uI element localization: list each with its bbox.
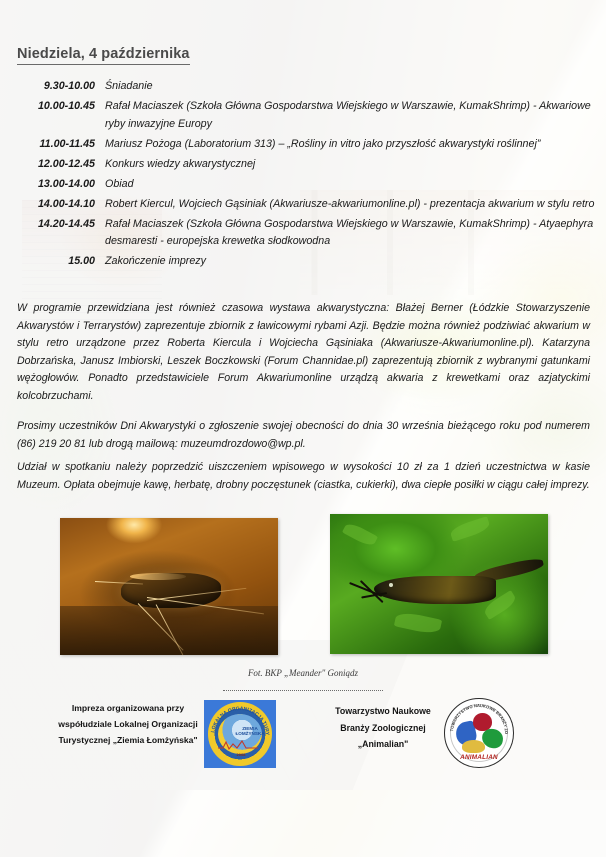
organizer-left-text: Impreza organizowana przy współudziale L… [52, 700, 204, 748]
schedule-description-main: Rafał Maciaszek (Szkoła Główna Gospodars… [105, 218, 593, 230]
organizer-left-line-2: współudziale Lokalnej Organizacji [52, 716, 204, 732]
schedule-description: Rafał Maciaszek (Szkoła Główna Gospodars… [105, 216, 606, 251]
paragraph-exhibition: W programie przewidziana jest również cz… [17, 300, 590, 406]
ziemia-lomzynska-logo: LOKALNA ORGANIZACJA TURYSTYCZNA ZIEMIA Ł… [204, 700, 276, 768]
schedule-time: 13.00-14.00 [0, 176, 105, 194]
photo-credit: Fot. BKP „Meander" Goniądz [0, 668, 606, 678]
schedule-row: 14.20-14.45 Rafał Maciaszek (Szkoła Głów… [0, 216, 606, 251]
paragraph-fee: Udział w spotkaniu należy poprzedzić uis… [17, 459, 590, 494]
animalian-logo-hedgehog-icon [462, 740, 485, 753]
organizer-right-text: Towarzystwo Naukowe Branży Zoologicznej … [318, 703, 448, 753]
schedule-description: Rafał Maciaszek (Szkoła Główna Gospodars… [105, 98, 606, 133]
page-title: Niedziela, 4 października [17, 46, 190, 65]
schedule-description: Robert Kiercul, Wojciech Gąsiniak (Akwar… [105, 196, 606, 214]
shrimp-photo-eye [389, 583, 393, 587]
animalian-logo: TOWARZYSTWO NAUKOWE BRANŻY ZOOLOGICZNEJ … [444, 698, 514, 768]
schedule-time: 12.00-12.45 [0, 156, 105, 174]
schedule-description: Śniadanie [105, 78, 606, 96]
organizer-left-line-3: Turystycznej „Ziemia Łomżyńska" [52, 732, 204, 748]
schedule-list: 9.30-10.00 Śniadanie 10.00-10.45 Rafał M… [0, 78, 606, 273]
shrimp-photo [330, 514, 548, 654]
ziemia-lomzynska-logo-wave-icon [218, 739, 258, 751]
schedule-description: Obiad [105, 176, 606, 194]
schedule-description: Mariusz Pożoga (Laboratorium 313) – „Roś… [105, 136, 606, 154]
schedule-description-main: Konkurs wiedzy akwarystycznej [105, 158, 255, 170]
organizer-left-line-1: Impreza organizowana przy [52, 700, 204, 716]
schedule-description-main: Zakończenie imprezy [105, 255, 206, 267]
animalian-logo-wordmark: ANIMALIAN [444, 754, 514, 761]
organizer-right-line-1: Towarzystwo Naukowe [318, 703, 448, 720]
ziemia-lomzynska-logo-year: 2008 [226, 752, 256, 757]
schedule-description-main: Robert Kiercul, Wojciech Gąsiniak (Akwar… [105, 198, 594, 210]
schedule-time: 14.00-14.10 [0, 196, 105, 214]
schedule-row: 15.00 Zakończenie imprezy [0, 253, 606, 271]
shrimp-photo-plant [449, 517, 491, 543]
schedule-row: 13.00-14.00 Obiad [0, 176, 606, 194]
schedule-row: 9.30-10.00 Śniadanie [0, 78, 606, 96]
schedule-time: 14.20-14.45 [0, 216, 105, 234]
schedule-time: 10.00-10.45 [0, 98, 105, 116]
schedule-time: 15.00 [0, 253, 105, 271]
schedule-description-main: Rafał Maciaszek (Szkoła Główna Gospodars… [105, 100, 591, 112]
catfish-photo-highlight [130, 573, 187, 580]
shrimp-photo-body [374, 576, 496, 604]
schedule-description-continued: ryby inwazyjne Europy [105, 116, 600, 134]
catfish-photo [60, 518, 278, 655]
shrimp-photo-plant [394, 610, 442, 635]
schedule-description-continued: desmaresti - europejska krewetka słodkow… [105, 233, 600, 251]
organizer-right-line-2: Branży Zoologicznej [318, 720, 448, 737]
paragraph-registration: Prosimy uczestników Dni Akwarystyki o zg… [17, 418, 590, 453]
schedule-row: 11.00-11.45 Mariusz Pożoga (Laboratorium… [0, 136, 606, 154]
ziemia-lomzynska-logo-label: ZIEMIA ŁOMŻYŃSKA [230, 726, 270, 737]
credit-divider [223, 690, 383, 691]
ziemia-lomzynska-logo-line-2: ŁOMŻYŃSKA [230, 731, 270, 736]
event-poster: Niedziela, 4 października 9.30-10.00 Śni… [0, 0, 606, 857]
schedule-description: Zakończenie imprezy [105, 253, 606, 271]
schedule-time: 9.30-10.00 [0, 78, 105, 96]
schedule-row: 14.00-14.10 Robert Kiercul, Wojciech Gąs… [0, 196, 606, 214]
organizer-right-line-3: „Animalian" [318, 736, 448, 753]
schedule-description: Konkurs wiedzy akwarystycznej [105, 156, 606, 174]
schedule-row: 12.00-12.45 Konkurs wiedzy akwarystyczne… [0, 156, 606, 174]
schedule-time: 11.00-11.45 [0, 136, 105, 154]
schedule-row: 10.00-10.45 Rafał Maciaszek (Szkoła Głów… [0, 98, 606, 133]
shrimp-photo-plant [342, 521, 378, 548]
schedule-description-main: Mariusz Pożoga (Laboratorium 313) – „Roś… [105, 138, 540, 150]
schedule-description-main: Śniadanie [105, 80, 153, 92]
schedule-description-main: Obiad [105, 178, 134, 190]
